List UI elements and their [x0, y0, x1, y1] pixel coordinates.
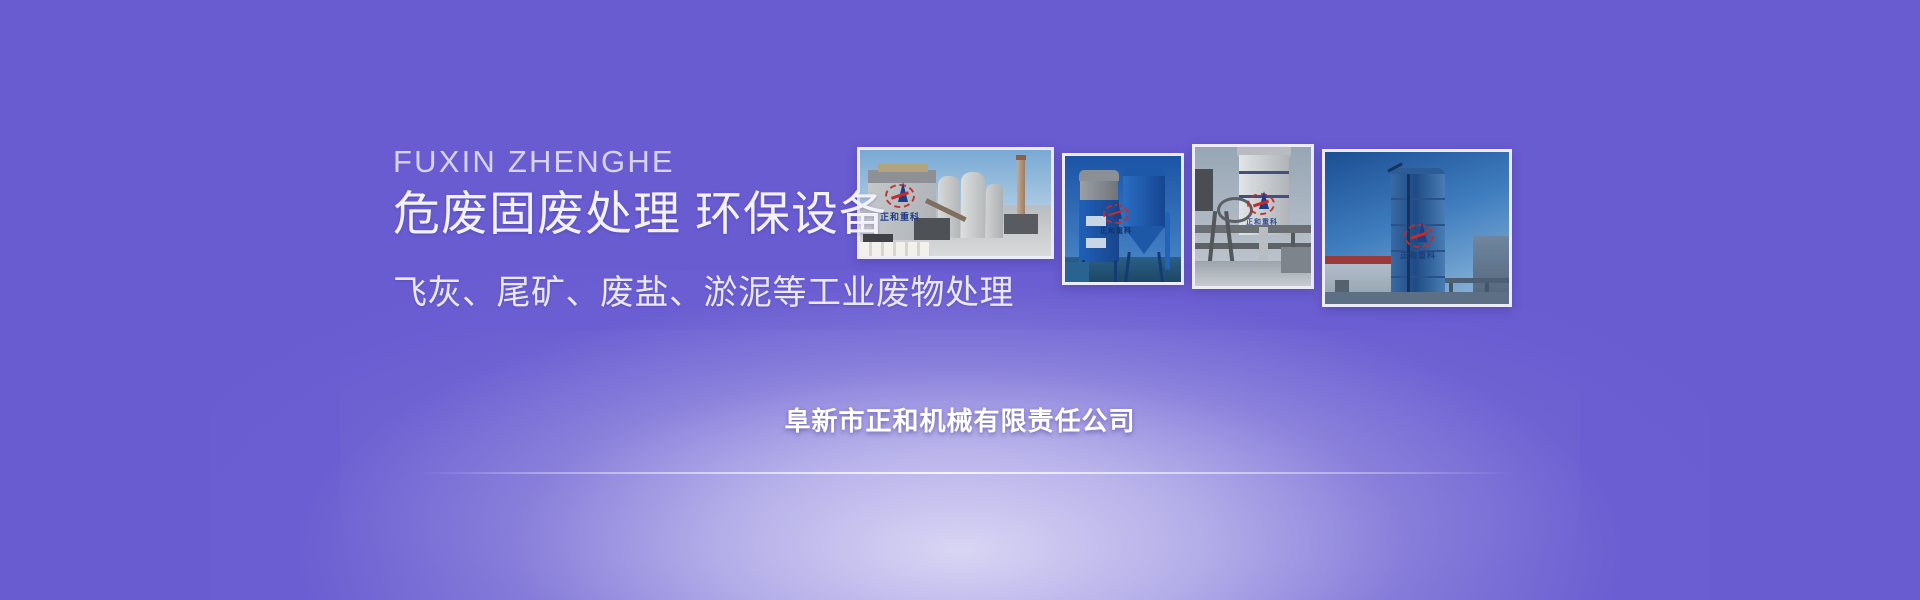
steel-structure-silo-photo: 正和重科 [1192, 144, 1314, 289]
blue-silo-plant-photo: 正和重科 [1062, 153, 1184, 285]
horizontal-divider [418, 472, 1514, 474]
zhenghe-emblem-icon [1399, 222, 1439, 250]
background-glow-upper [340, 330, 1580, 600]
hero-banner: 正和重科 [0, 0, 1920, 600]
hero-text-block: FUXIN ZHENGHE 危废固废处理 环保设备 飞灰、尾矿、废盐、淤泥等工业… [393, 144, 1014, 316]
company-name: 阜新市正和机械有限责任公司 [0, 404, 1920, 438]
hero-subheadline: 飞灰、尾矿、废盐、淤泥等工业废物处理 [393, 270, 1014, 316]
zhenghe-emblem-icon [1099, 202, 1133, 226]
photo-logo-text: 正和重科 [1391, 250, 1445, 261]
zhenghe-emblem-icon [1243, 191, 1279, 217]
photo-logo-text: 正和重科 [1235, 217, 1289, 227]
brand-latin-name: FUXIN ZHENGHE [393, 144, 1014, 180]
hero-headline: 危废固废处理 环保设备 [393, 184, 1014, 244]
photo-logo-text: 正和重科 [1091, 226, 1141, 236]
tall-storage-silo-photo: 正和重科 [1322, 149, 1512, 307]
